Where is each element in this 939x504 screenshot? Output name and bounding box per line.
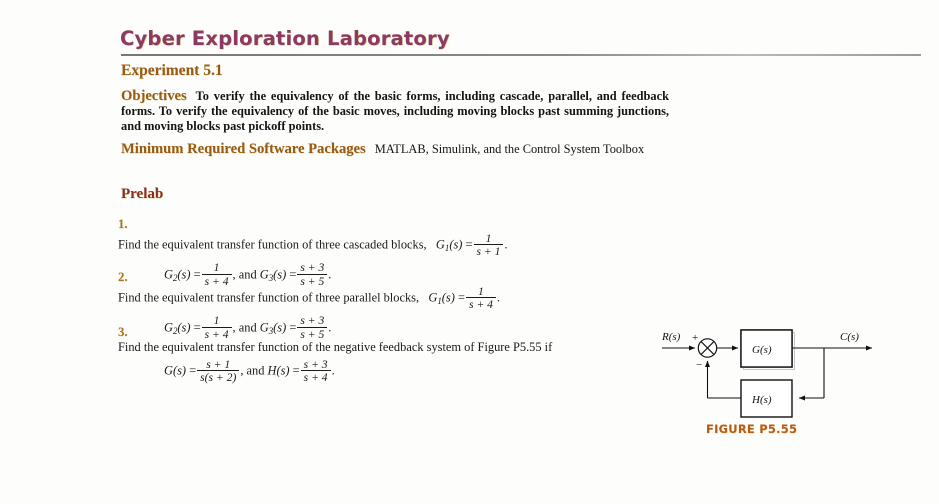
plus-sign-label: + bbox=[692, 332, 698, 344]
list-item: 3. Find the equivalent transfer function… bbox=[118, 325, 666, 385]
software-paragraph: Minimum Required Software PackagesMATLAB… bbox=[121, 142, 669, 157]
list-item-text: Find the equivalent transfer function of… bbox=[118, 290, 419, 304]
objectives-paragraph: ObjectivesTo verify the equivalency of t… bbox=[121, 89, 669, 135]
block-diagram-figure: R(s) + − G(s) H(s) C(s) FIGURE P5.55 bbox=[660, 322, 939, 442]
feedback-block-label: H(s) bbox=[751, 394, 772, 406]
output-label: C(s) bbox=[840, 331, 859, 343]
conjunction: and bbox=[247, 363, 265, 377]
prelab-heading: Prelab bbox=[121, 186, 163, 203]
equation-g: G(s) =s + 1s(s + 2), bbox=[164, 358, 243, 385]
equation-g1: G1(s) =1s + 1. bbox=[436, 232, 508, 259]
software-text: MATLAB, Simulink, and the Control System… bbox=[375, 142, 644, 156]
experiment-heading: Experiment 5.1 bbox=[121, 62, 223, 80]
document-page: Cyber Exploration Laboratory Experiment … bbox=[0, 0, 939, 504]
equation-h: H(s) =s + 3s + 4. bbox=[268, 358, 335, 385]
objectives-text: To verify the equivalency of the basic f… bbox=[121, 89, 669, 133]
input-label: R(s) bbox=[661, 331, 681, 343]
figure-caption: FIGURE P5.55 bbox=[706, 422, 797, 436]
list-item-number: 1. bbox=[118, 217, 134, 232]
block-diagram-svg: R(s) + − G(s) H(s) C(s) bbox=[660, 322, 939, 422]
page-title: Cyber Exploration Laboratory bbox=[120, 27, 450, 50]
list-item-number: 3. bbox=[118, 325, 134, 340]
list-item-number: 2. bbox=[118, 270, 134, 285]
equation-g1: G1(s) =1s + 4. bbox=[428, 285, 500, 312]
forward-block-label: G(s) bbox=[752, 344, 772, 356]
objectives-label: Objectives bbox=[121, 88, 187, 104]
title-divider bbox=[121, 54, 921, 56]
list-item-text: Find the equivalent transfer function of… bbox=[118, 340, 552, 354]
minus-sign-label: − bbox=[696, 359, 702, 371]
summing-junction-icon bbox=[698, 339, 716, 357]
software-label: Minimum Required Software Packages bbox=[121, 141, 366, 157]
list-item-text: Find the equivalent transfer function of… bbox=[118, 237, 427, 251]
